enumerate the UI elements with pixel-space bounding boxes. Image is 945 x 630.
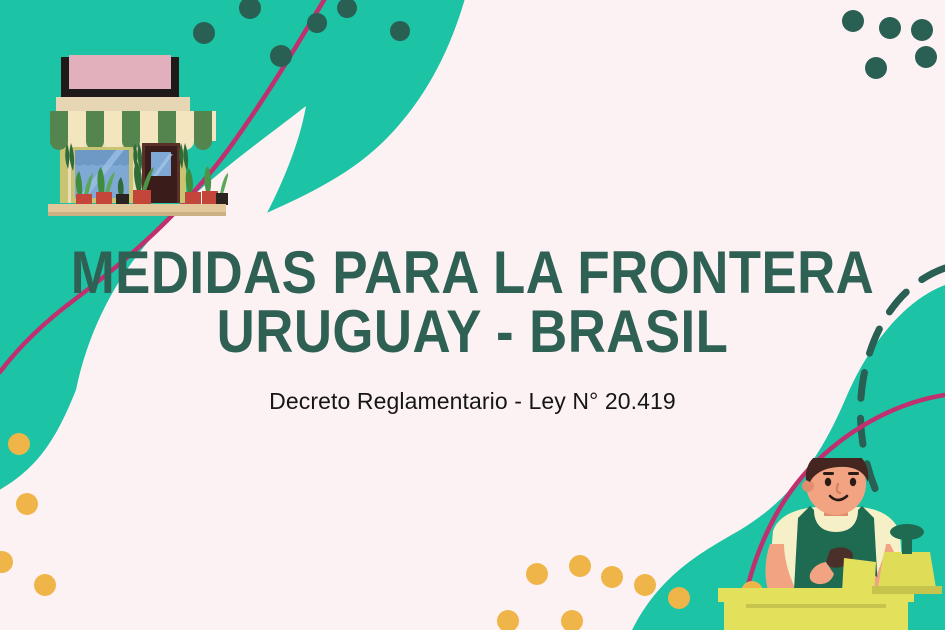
clerk-ear bbox=[802, 480, 814, 492]
green-dot bbox=[193, 22, 215, 44]
potted-plant bbox=[216, 172, 228, 205]
counter-trim bbox=[746, 604, 886, 608]
green-dot bbox=[911, 19, 933, 41]
amber-dot bbox=[526, 563, 548, 585]
amber-dot bbox=[601, 566, 623, 588]
storefront-illustration bbox=[38, 55, 228, 225]
amber-dot bbox=[569, 555, 591, 577]
amber-dot bbox=[634, 574, 656, 596]
amber-dot bbox=[668, 587, 690, 609]
page-title: MEDIDAS PARA LA FRONTERA URUGUAY - BRASI… bbox=[57, 243, 889, 362]
potted-plant bbox=[202, 166, 218, 205]
green-dot bbox=[390, 21, 410, 41]
page-subtitle: Decreto Reglamentario - Ley N° 20.419 bbox=[0, 388, 945, 415]
title-text-block: MEDIDAS PARA LA FRONTERA URUGUAY - BRASI… bbox=[0, 243, 945, 415]
amber-dot bbox=[34, 574, 56, 596]
potted-plant bbox=[185, 168, 201, 205]
green-dot bbox=[307, 13, 327, 33]
green-dot bbox=[879, 17, 901, 39]
amber-dot bbox=[16, 493, 38, 515]
shop-shelf-shadow bbox=[48, 212, 226, 216]
shop-sign-panel bbox=[69, 55, 171, 89]
shop-header-beam bbox=[56, 97, 190, 111]
green-dot bbox=[865, 57, 887, 79]
amber-dot bbox=[8, 433, 30, 455]
green-dot bbox=[915, 46, 937, 68]
green-dot bbox=[270, 45, 292, 67]
presentation-slide: MEDIDAS PARA LA FRONTERA URUGUAY - BRASI… bbox=[0, 0, 945, 630]
shopkeeper-illustration bbox=[718, 458, 945, 630]
green-dot bbox=[842, 10, 864, 32]
shop-awning bbox=[50, 111, 216, 150]
